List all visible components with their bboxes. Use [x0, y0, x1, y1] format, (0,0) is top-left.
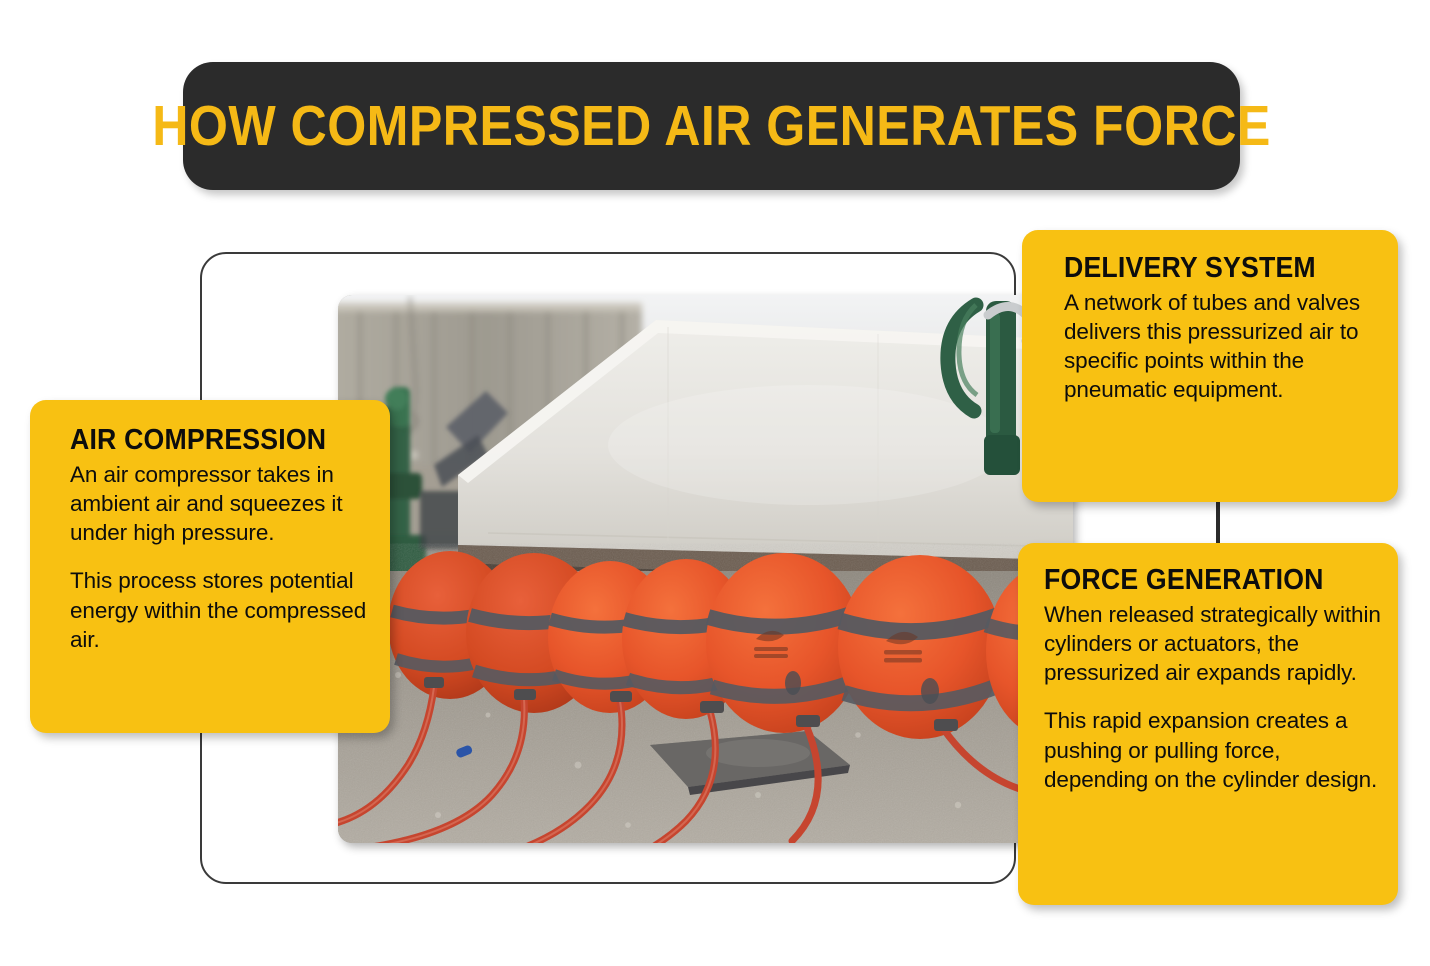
card-force-generation-paragraph-2: This rapid expansion creates a pushing o… — [1044, 706, 1388, 794]
card-air-compression: AIR COMPRESSION An air compressor takes … — [30, 400, 390, 733]
infographic-page: HOW COMPRESSED AIR GENERATES FORCE — [0, 0, 1430, 966]
card-force-generation-paragraph-1: When released strategically within cylin… — [1044, 600, 1388, 688]
card-delivery-system-heading: DELIVERY SYSTEM — [1064, 254, 1358, 284]
card-connector-line — [1216, 499, 1220, 547]
card-air-compression-paragraph-1: An air compressor takes in ambient air a… — [70, 460, 368, 548]
card-force-generation: FORCE GENERATION When released strategic… — [1018, 543, 1398, 905]
card-delivery-system-paragraph-1: A network of tubes and valves delivers t… — [1064, 288, 1384, 405]
lifting-bags-photo — [338, 295, 1073, 843]
page-title: HOW COMPRESSED AIR GENERATES FORCE — [152, 98, 1271, 155]
title-banner: HOW COMPRESSED AIR GENERATES FORCE — [183, 62, 1240, 190]
card-air-compression-paragraph-2: This process stores potential energy wit… — [70, 566, 368, 654]
card-force-generation-heading: FORCE GENERATION — [1044, 566, 1360, 596]
photo-illustration — [338, 295, 1073, 843]
card-delivery-system: DELIVERY SYSTEM A network of tubes and v… — [1022, 230, 1398, 502]
card-air-compression-heading: AIR COMPRESSION — [70, 426, 344, 456]
